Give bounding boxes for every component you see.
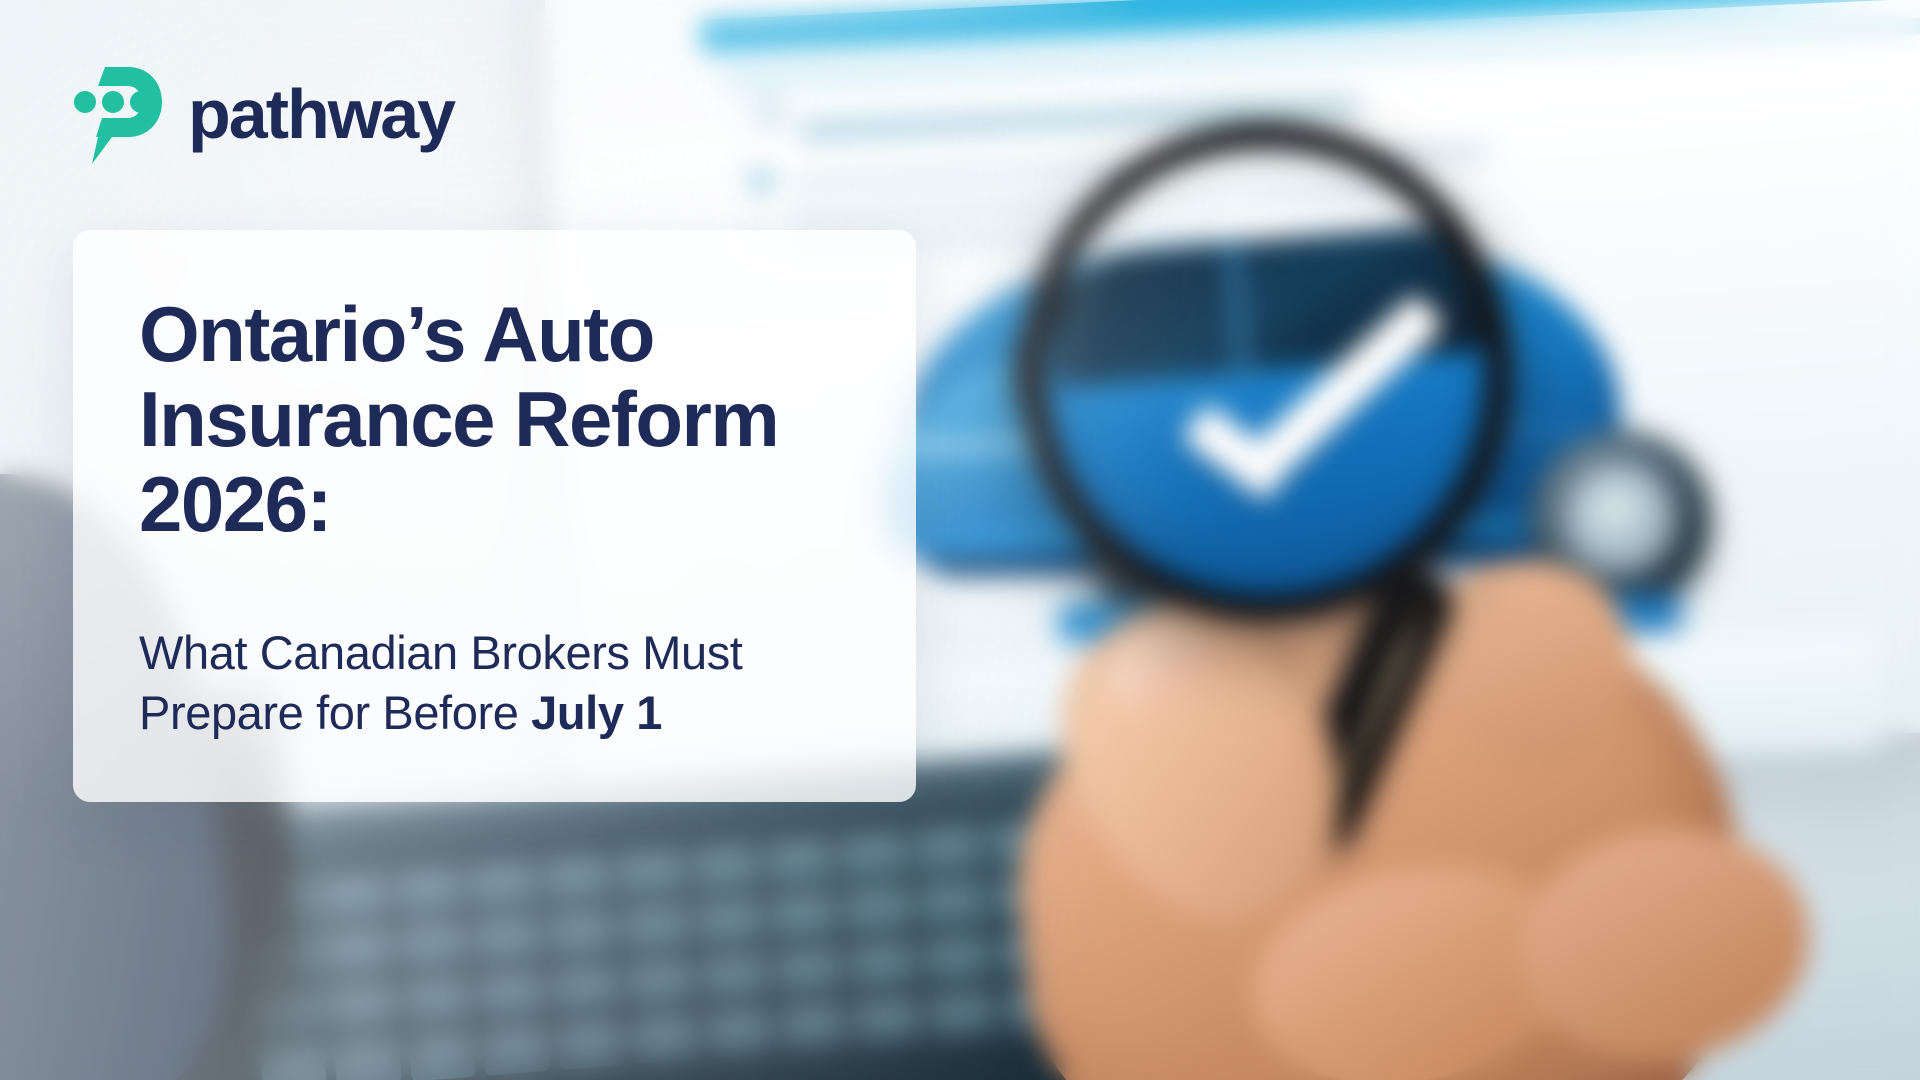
- banner-canvas: pathway Ontario’s Auto Insurance Reform …: [0, 0, 1920, 1080]
- page-subtitle: What Canadian Brokers Must Prepare for B…: [139, 623, 860, 743]
- headline-line-2: Insurance Reform: [139, 377, 860, 462]
- subtitle-emphasis-date: July 1: [531, 686, 662, 739]
- headline-line-1: Ontario’s Auto: [139, 292, 860, 377]
- brand-logo[interactable]: pathway: [72, 58, 454, 170]
- page-title: Ontario’s Auto Insurance Reform 2026:: [139, 292, 860, 547]
- headline-card: Ontario’s Auto Insurance Reform 2026: Wh…: [73, 230, 916, 802]
- speech-bubble-dots-icon: [72, 58, 168, 170]
- subtitle-line-2-prefix: Prepare for Before: [139, 686, 531, 739]
- subtitle-line-1: What Canadian Brokers Must: [139, 623, 860, 683]
- subtitle-line-2: Prepare for Before July 1: [139, 683, 860, 743]
- brand-name: pathway: [188, 79, 454, 149]
- headline-line-3: 2026:: [139, 462, 860, 547]
